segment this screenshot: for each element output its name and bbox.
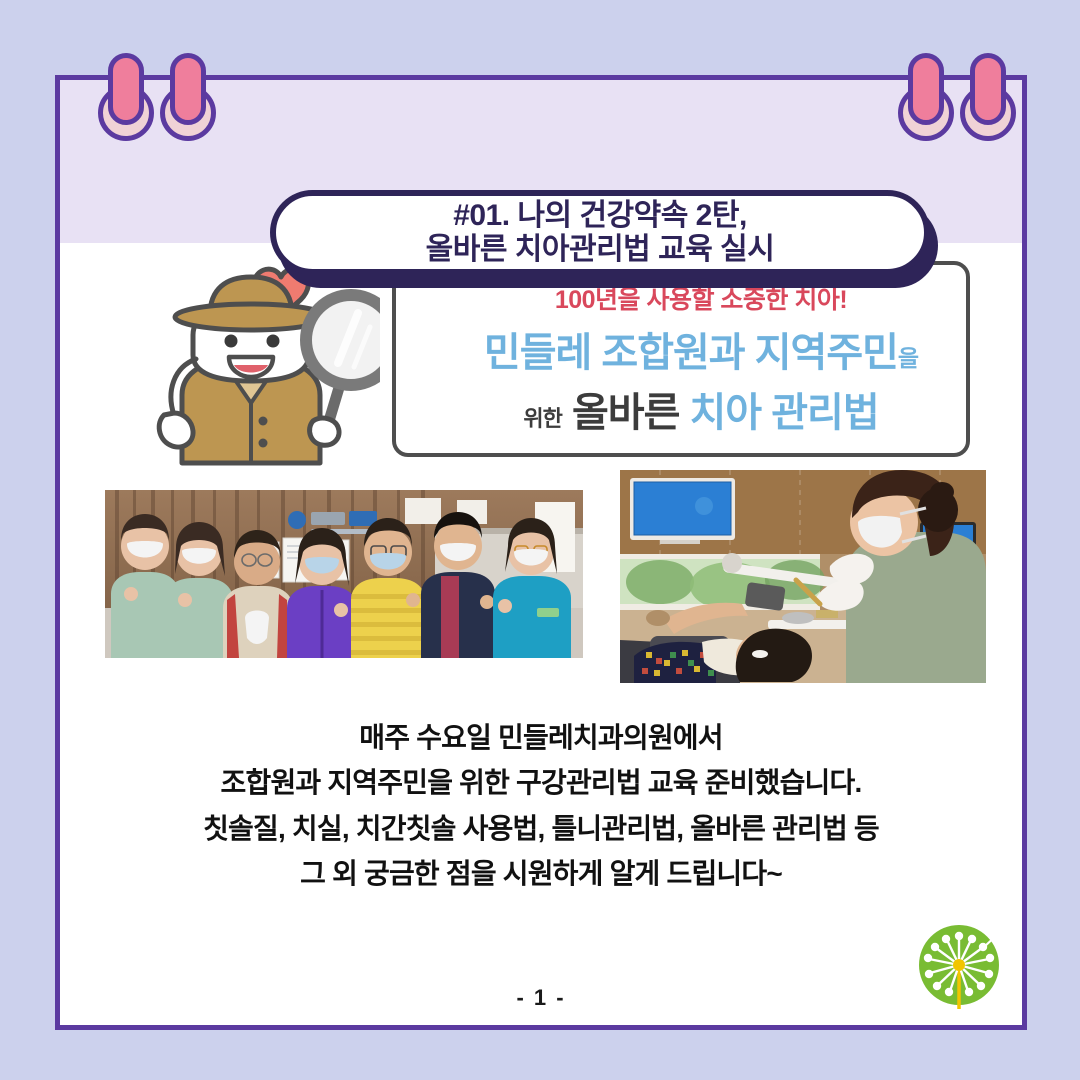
promo-headline-1-suffix: 을 xyxy=(898,345,918,371)
promo-headline-2-blue: 치아 관리법 xyxy=(690,391,879,435)
page-title: #01. 나의 건강약속 2탄, 올바른 치아관리법 교육 실시 xyxy=(270,190,930,275)
promo-headline-2-dark: 올바른 xyxy=(572,391,679,435)
magnifying-glass-icon xyxy=(306,295,380,385)
binder-ring-2 xyxy=(170,53,206,125)
body-line-3: 칫솔질, 치실, 치간칫솔 사용법, 틀니관리법, 올바른 관리법 등 xyxy=(60,806,1022,851)
promo-headline-1: 민들레 조합원과 지역주민을 xyxy=(484,320,918,378)
promo-headline-1-main: 민들레 조합원과 지역주민 xyxy=(484,331,898,375)
group-photo-dental-staff-and-residents xyxy=(105,490,583,658)
promo-banner-box: 100년을 사용할 소중한 치아! 민들레 조합원과 지역주민을 위한 올바른 … xyxy=(392,261,970,457)
promo-headline-2: 위한 올바른 치아 관리법 xyxy=(523,380,878,438)
page-title-line-1: #01. 나의 건강약속 2탄, xyxy=(453,199,747,233)
binder-ring-3 xyxy=(908,53,944,125)
binder-ring-1 xyxy=(108,53,144,125)
card-news-page: #01. 나의 건강약속 2탄, 올바른 치아관리법 교육 실시 100년을 사… xyxy=(0,0,1080,1080)
content-card: #01. 나의 건강약속 2탄, 올바른 치아관리법 교육 실시 100년을 사… xyxy=(55,75,1027,1030)
body-line-4: 그 외 궁금한 점을 시원하게 알게 드립니다~ xyxy=(60,851,1022,896)
dental-treatment-photo xyxy=(620,470,986,683)
promo-headline-2-prefix: 위한 xyxy=(523,406,561,431)
binder-ring-4 xyxy=(970,53,1006,125)
page-title-line-2: 올바른 치아관리법 교육 실시 xyxy=(426,233,775,267)
body-copy: 매주 수요일 민들레치과의원에서 조합원과 지역주민을 위한 구강관리법 교육 … xyxy=(60,715,1022,896)
dandelion-logo xyxy=(914,923,1004,1013)
page-number: - 1 - xyxy=(60,985,1022,1011)
tooth-detective-mascot xyxy=(130,263,380,468)
body-line-1: 매주 수요일 민들레치과의원에서 xyxy=(60,715,1022,760)
body-line-2: 조합원과 지역주민을 위한 구강관리법 교육 준비했습니다. xyxy=(60,760,1022,805)
